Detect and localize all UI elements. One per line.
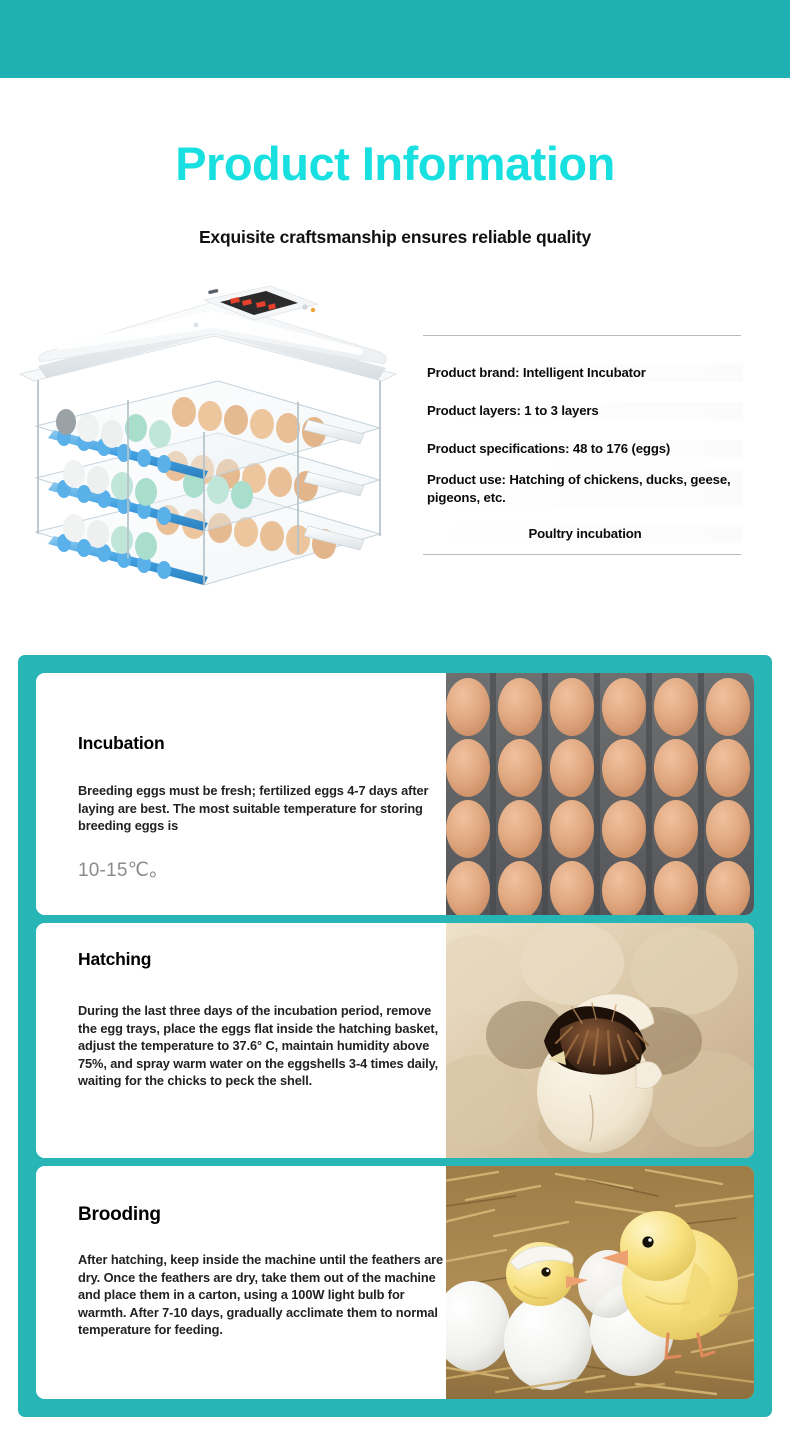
card-photo-egg-tray xyxy=(444,673,754,915)
process-card-incubation: Incubation Breeding eggs must be fresh; … xyxy=(36,673,754,915)
incubator-illustration xyxy=(8,282,408,612)
card-photo-hatching-chick xyxy=(440,923,754,1158)
card-title-incubation: Incubation xyxy=(78,733,432,754)
card-temperature-incubation: 10-15℃。 xyxy=(78,855,432,882)
page-header: Product Information Exquisite craftsmans… xyxy=(0,78,790,278)
card-photo-chicks-straw xyxy=(436,1166,754,1399)
card-body-brooding: After hatching, keep inside the machine … xyxy=(78,1251,450,1339)
product-showcase: Product brand: Intelligent Incubator Pro… xyxy=(0,278,790,628)
card-body-hatching: During the last three days of the incuba… xyxy=(78,1002,446,1090)
spec-divider-bottom xyxy=(423,554,741,555)
process-card-brooding: Brooding After hatching, keep inside the… xyxy=(36,1166,754,1399)
spec-item-use: Product use: Hatching of chickens, ducks… xyxy=(427,471,743,507)
card-title-brooding: Brooding xyxy=(78,1204,432,1226)
spec-block: Product brand: Intelligent Incubator Pro… xyxy=(423,335,743,595)
card-body-incubation: Breeding eggs must be fresh; fertilized … xyxy=(78,782,430,835)
card-text-block: Hatching During the last three days of t… xyxy=(36,923,446,1158)
spec-footer-note: Poultry incubation xyxy=(427,525,743,543)
page-title: Product Information xyxy=(0,140,790,187)
spec-item-specifications: Product specifications: 48 to 176 (eggs) xyxy=(427,440,743,458)
egg-tray-illustration xyxy=(444,673,754,915)
spec-item-brand: Product brand: Intelligent Incubator xyxy=(427,364,743,382)
process-card-hatching: Hatching During the last three days of t… xyxy=(36,923,754,1158)
spec-list: Product brand: Intelligent Incubator Pro… xyxy=(423,336,743,554)
top-accent-bar xyxy=(0,0,790,78)
process-cards-panel: Incubation Breeding eggs must be fresh; … xyxy=(18,655,772,1417)
hatching-chick-illustration xyxy=(440,923,754,1158)
spec-item-layers: Product layers: 1 to 3 layers xyxy=(427,402,743,420)
card-title-hatching: Hatching xyxy=(78,949,432,970)
product-image xyxy=(8,282,408,612)
card-text-block: Brooding After hatching, keep inside the… xyxy=(36,1166,446,1399)
card-text-block: Incubation Breeding eggs must be fresh; … xyxy=(36,673,446,915)
chicks-on-straw-illustration xyxy=(436,1166,754,1399)
page-subtitle: Exquisite craftsmanship ensures reliable… xyxy=(0,227,790,248)
